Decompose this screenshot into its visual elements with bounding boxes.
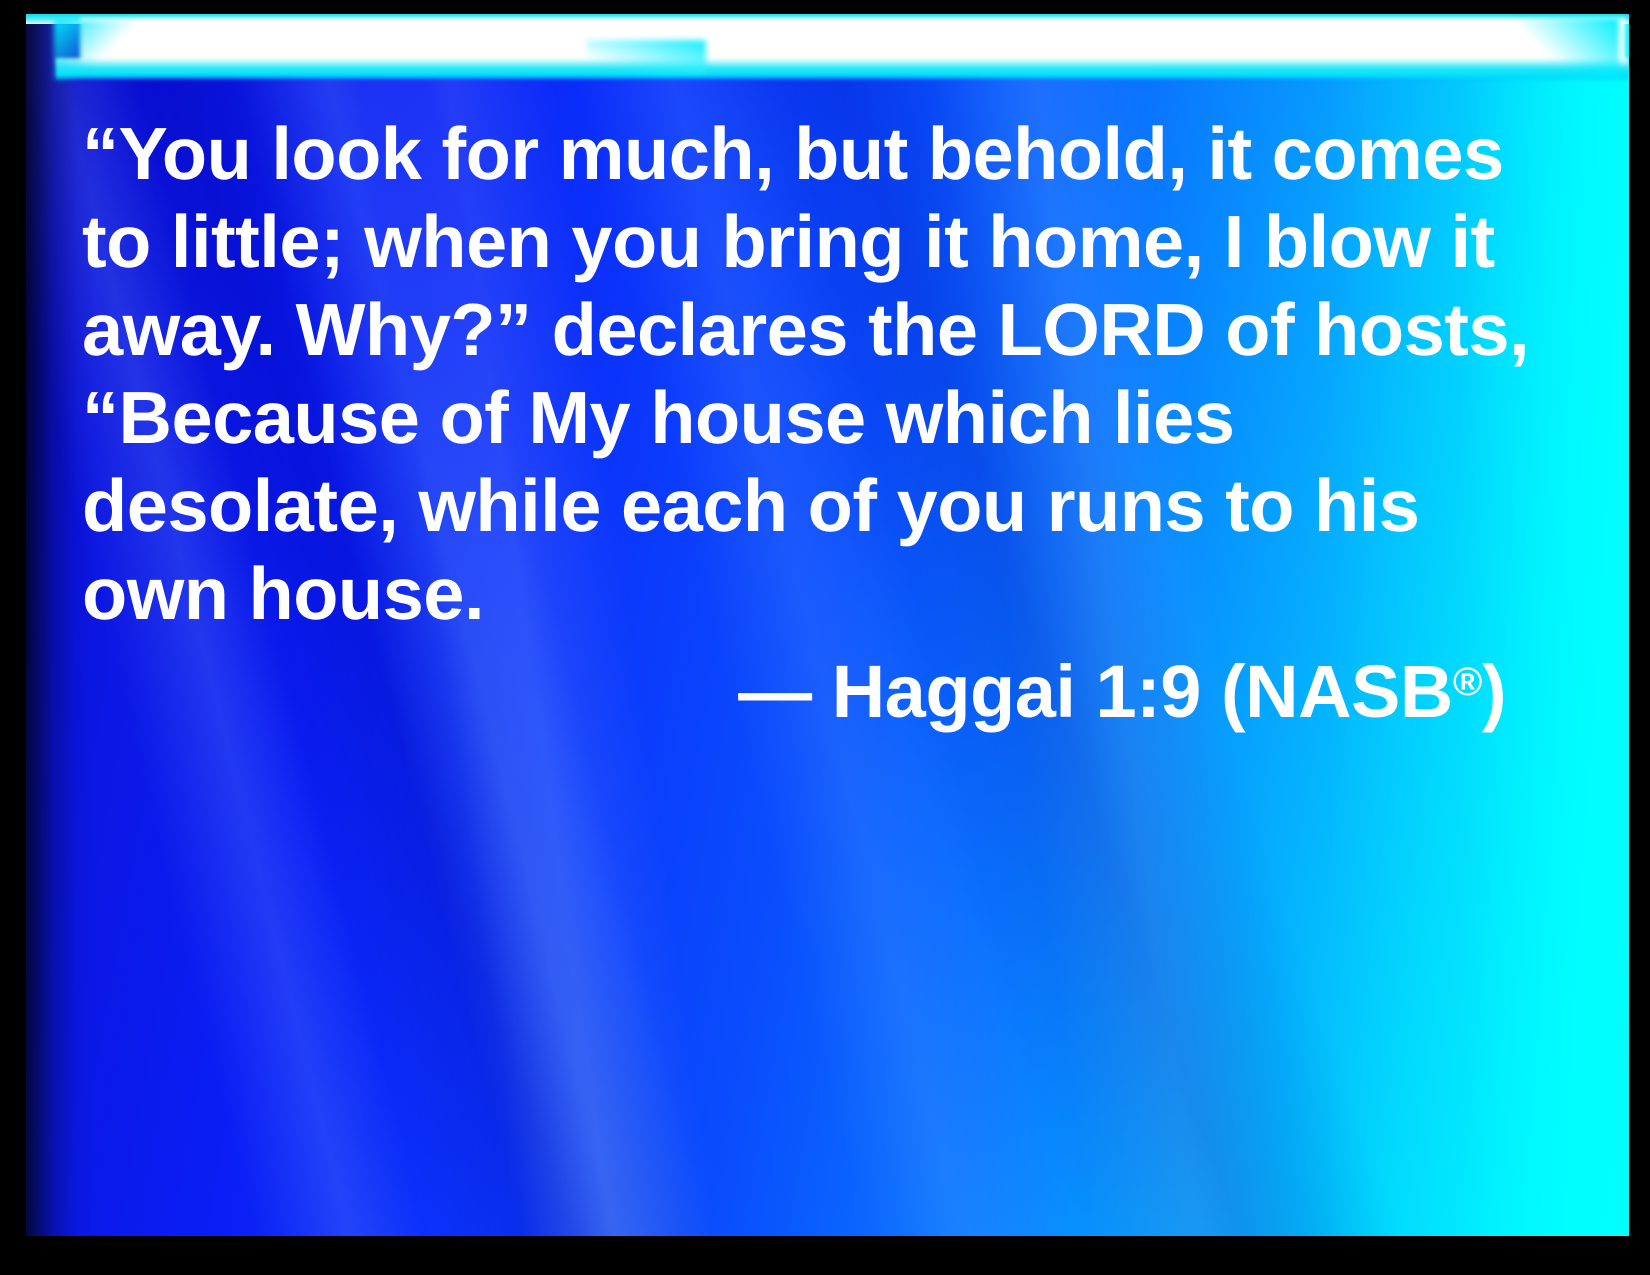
attribution-close-paren: ): [1482, 650, 1506, 733]
attribution-translation: NASB: [1245, 650, 1453, 733]
verse-text: “You look for much, but behold, it comes…: [82, 110, 1532, 638]
attribution-open-paren: (: [1221, 650, 1245, 733]
banner-white-core: [80, 18, 1625, 68]
attribution-dash: —: [738, 650, 812, 733]
registered-trademark-icon: ®: [1453, 660, 1482, 704]
top-glow-banner: [26, 14, 1629, 86]
verse-block: “You look for much, but behold, it comes…: [82, 110, 1532, 736]
verse-attribution: — Haggai 1:9 (NASB®): [738, 650, 1506, 733]
banner-cyan-top-edge: [26, 14, 1629, 24]
attribution-row: — Haggai 1:9 (NASB®): [82, 638, 1532, 736]
attribution-reference: Haggai 1:9: [832, 650, 1201, 733]
attribution-spacer-2: [1201, 650, 1221, 733]
banner-cyan-bottom-edge: [56, 58, 1629, 80]
slide-frame: “You look for much, but behold, it comes…: [0, 0, 1650, 1275]
attribution-spacer: [812, 650, 832, 733]
banner-highlight-middle: [586, 40, 706, 74]
slide-canvas: “You look for much, but behold, it comes…: [26, 14, 1629, 1236]
banner-highlight-left: [54, 20, 134, 80]
banner-highlight-right: [1499, 18, 1619, 80]
